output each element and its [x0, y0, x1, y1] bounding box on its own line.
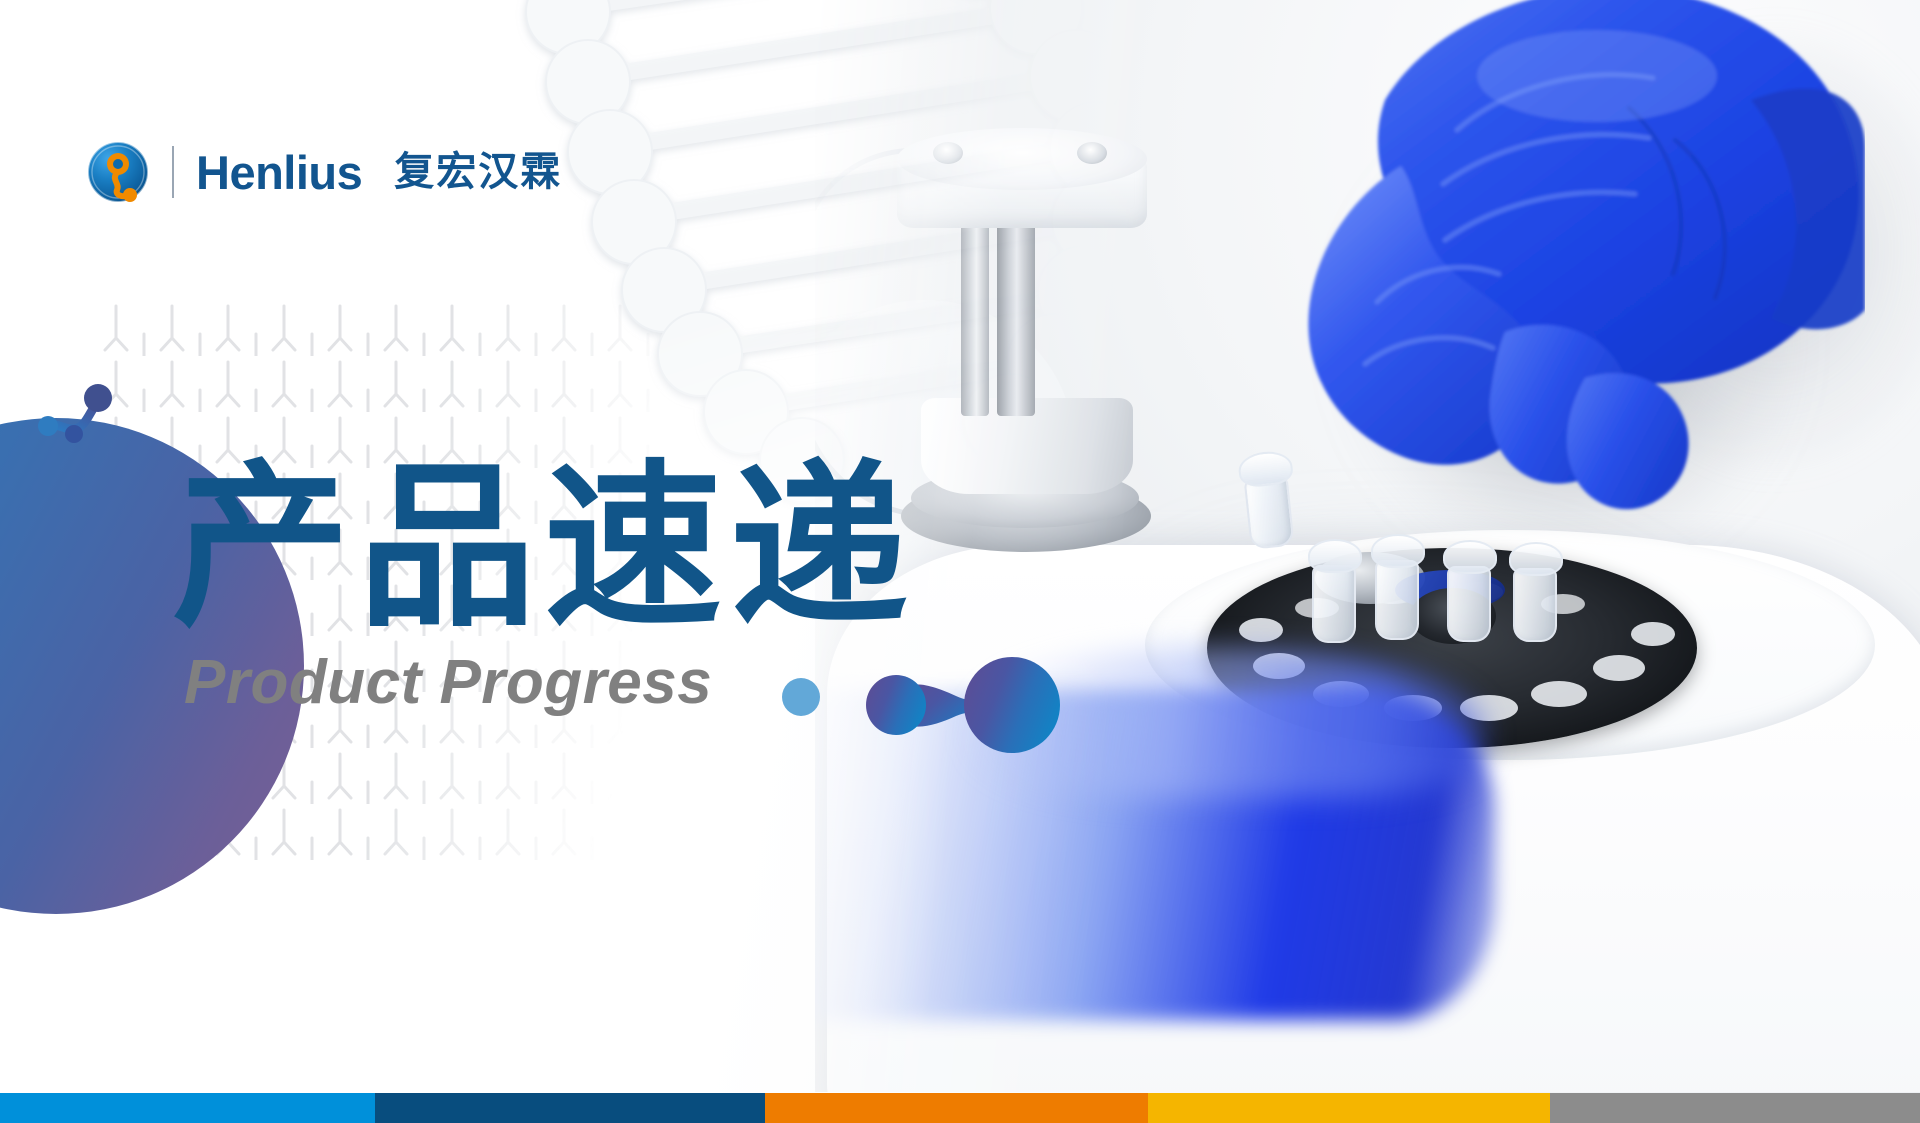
logo-name-en: Henlius: [196, 149, 362, 196]
lab-centrifuge-photo: [815, 0, 1920, 1092]
color-bar-segment-amber: [1148, 1093, 1550, 1123]
bottom-color-bar: [0, 1093, 1920, 1123]
color-bar-segment-orange: [765, 1093, 1148, 1123]
page-subtitle-en: Product Progress: [184, 650, 916, 715]
logo-divider: [172, 146, 174, 198]
blue-gloved-hand: [1205, 0, 1865, 620]
cap-screw: [1077, 142, 1107, 164]
title-block: 产品速递 Product Progress: [172, 452, 916, 715]
color-bar-segment-dark-blue: [375, 1093, 765, 1123]
logo-name-cn: 复宏汉霖: [394, 152, 562, 192]
brand-logo[interactable]: Henlius 复宏汉霖: [86, 140, 562, 204]
color-bar-segment-light-blue: [0, 1093, 375, 1123]
henlius-molecule-logo-icon: [86, 140, 150, 204]
color-bar-segment-gray: [1550, 1093, 1920, 1123]
cap-screw: [933, 142, 963, 164]
slide-canvas: Henlius 复宏汉霖 产品速递 Product Progress: [0, 0, 1920, 1123]
page-title-cn: 产品速递: [172, 452, 916, 644]
molecule-icon-small: [34, 382, 124, 452]
